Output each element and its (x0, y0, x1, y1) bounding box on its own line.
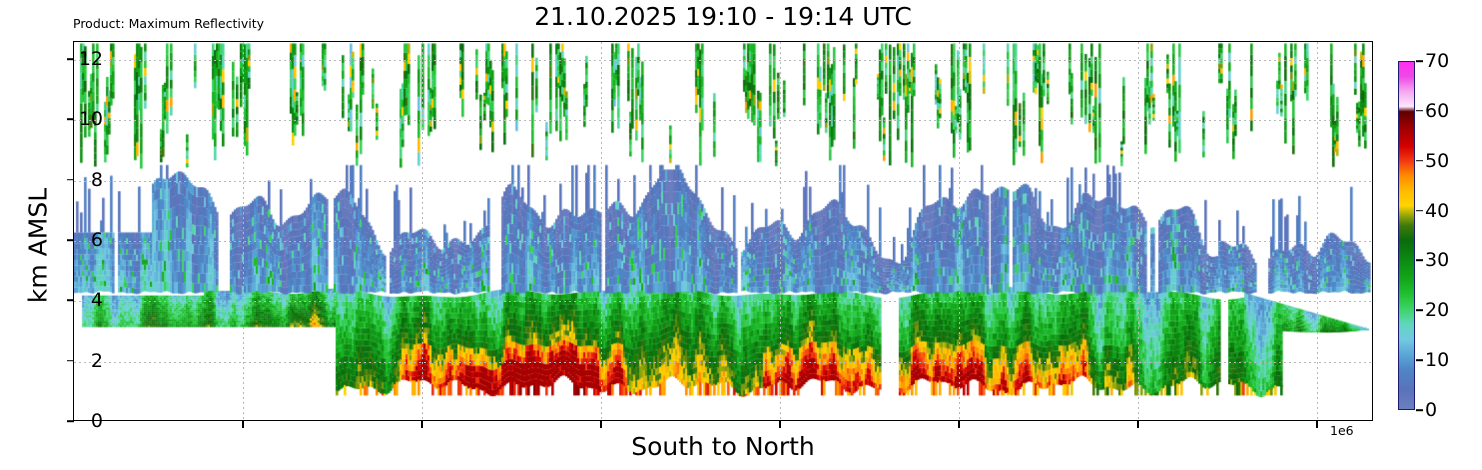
y-tick-mark (67, 119, 74, 121)
colorbar-tick-label: 30 (1425, 249, 1449, 271)
y-tick-mark (67, 179, 74, 181)
colorbar-tick-mark (1416, 359, 1423, 361)
y-tick-label: 0 (91, 410, 103, 432)
y-tick-mark (67, 300, 74, 302)
x-tick-mark (242, 421, 244, 428)
colorbar-tick-label: 60 (1425, 100, 1449, 122)
colorbar-tick-label: 0 (1425, 399, 1437, 421)
colorbar-tick-label: 20 (1425, 299, 1449, 321)
radar-cross-section-figure: Product: Maximum Reflectivity 21.10.2025… (0, 0, 1482, 470)
y-tick-mark (67, 360, 74, 362)
y-tick-mark (67, 420, 74, 422)
colorbar-tick-mark (1416, 260, 1423, 262)
y-tick-label: 6 (91, 229, 103, 251)
x-tick-mark (600, 421, 602, 428)
colorbar-tick-mark (1416, 210, 1423, 212)
x-tick-mark (779, 421, 781, 428)
chart-title: 21.10.2025 19:10 - 19:14 UTC (73, 2, 1373, 31)
y-tick-label: 4 (91, 289, 103, 311)
colorbar: 010203040506070 (1398, 61, 1415, 410)
colorbar-tick-mark (1416, 409, 1423, 411)
colorbar-tick-mark (1416, 60, 1423, 62)
y-axis-label: km AMSL (24, 166, 53, 326)
x-axis-offset-text: 1e6 (1330, 423, 1354, 438)
x-tick-mark (1316, 421, 1318, 428)
colorbar-tick-label: 70 (1425, 50, 1449, 72)
y-tick-label: 10 (79, 108, 103, 130)
y-tick-label: 12 (79, 48, 103, 70)
colorbar-tick-label: 40 (1425, 200, 1449, 222)
y-tick-label: 2 (91, 350, 103, 372)
colorbar-tick-label: 10 (1425, 349, 1449, 371)
colorbar-tick-mark (1416, 110, 1423, 112)
colorbar-tick-mark (1416, 160, 1423, 162)
x-axis-label: South to North (73, 432, 1373, 461)
y-tick-label: 8 (91, 169, 103, 191)
reflectivity-heatmap (74, 42, 1372, 420)
colorbar-tick-label: 50 (1425, 150, 1449, 172)
y-tick-mark (67, 239, 74, 241)
x-tick-mark (958, 421, 960, 428)
x-tick-mark (421, 421, 423, 428)
colorbar-tick-mark (1416, 309, 1423, 311)
x-tick-mark (1137, 421, 1139, 428)
y-tick-mark (67, 58, 74, 60)
plot-area (73, 41, 1373, 421)
colorbar-gradient (1398, 61, 1415, 410)
